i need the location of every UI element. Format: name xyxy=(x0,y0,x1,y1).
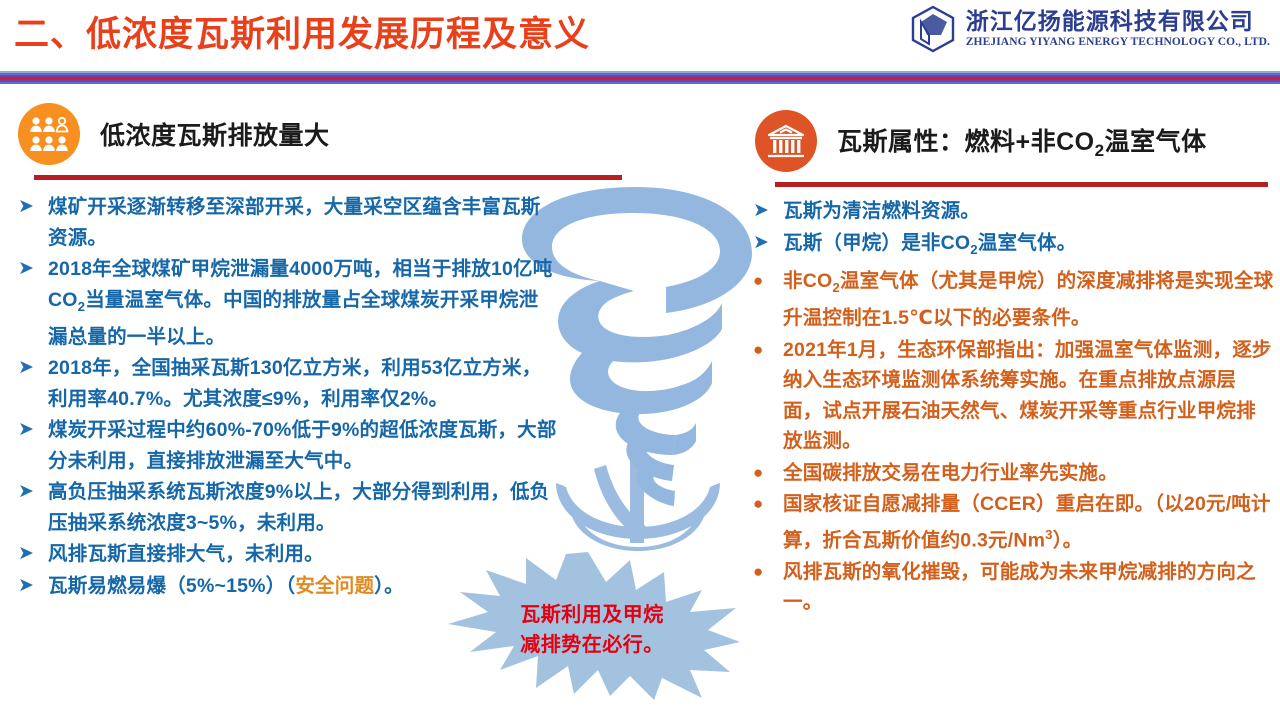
right-title-part1: 瓦斯属性：燃料+非CO xyxy=(837,128,1095,156)
bullet-text: 高负压抽采系统瓦斯浓度9%以上，大部分得到利用，低负压抽采系统浓度3~5%，未利… xyxy=(48,477,558,538)
company-name-en: ZHEJIANG YIYANG ENERGY TECHNOLOGY CO., L… xyxy=(966,37,1270,49)
right-bullet-list: ➤ 瓦斯为清洁燃料资源。 ➤ 瓦斯（甲烷）是非CO2温室气体。 ● 非CO2温室… xyxy=(745,196,1275,619)
callout-line-2: 减排势在必行。 xyxy=(472,630,712,660)
arrow-bullet-icon: ➤ xyxy=(10,539,48,569)
list-item: ➤ 2018年，全国抽采瓦斯130亿立方米，利用53亿立方米，利用率40.7%。… xyxy=(10,353,558,414)
list-item: ➤ 风排瓦斯直接排大气，未利用。 xyxy=(10,539,558,570)
arrow-bullet-icon: ➤ xyxy=(10,415,48,445)
bullet-text: 国家核证自愿减排量（CCER）重启在即。（以20元/吨计算，折合瓦斯价值约0.3… xyxy=(783,489,1275,556)
list-item: ➤ 瓦斯易燃易爆（5%~15%）（安全问题）。 xyxy=(10,571,558,602)
list-item: ● 风排瓦斯的氧化摧毁，可能成为未来甲烷减排的方向之一。 xyxy=(745,557,1275,618)
right-title-sub: 2 xyxy=(1095,141,1105,160)
dot-bullet-icon: ● xyxy=(745,458,783,488)
bullet-text: 风排瓦斯的氧化摧毁，可能成为未来甲烷减排的方向之一。 xyxy=(783,557,1275,618)
bullet-text: 瓦斯（甲烷）是非CO2温室气体。 xyxy=(783,228,1076,265)
dot-bullet-icon: ● xyxy=(745,335,783,365)
right-section-heading: 瓦斯属性：燃料+非CO2温室气体 xyxy=(755,110,1265,187)
page-title: 二、低浓度瓦斯利用发展历程及意义 xyxy=(14,8,590,62)
starburst-callout-text: 瓦斯利用及甲烷 减排势在必行。 xyxy=(472,600,712,660)
right-section-title: 瓦斯属性：燃料+非CO2温室气体 xyxy=(837,122,1207,161)
list-item: ➤ 瓦斯为清洁燃料资源。 xyxy=(745,196,1275,227)
list-item: ● 非CO2温室气体（尤其是甲烷）的深度减排将是实现全球升温控制在1.5℃以下的… xyxy=(745,266,1275,334)
arrow-bullet-icon: ➤ xyxy=(745,196,783,226)
bullet-highlight: 安全问题 xyxy=(295,575,374,597)
slide-header: 二、低浓度瓦斯利用发展历程及意义 浙江亿扬能源科技有限公司 ZHEJIANG Y… xyxy=(0,0,1280,84)
left-bullet-list: ➤ 煤矿开采逐渐转移至深部开采，大量采空区蕴含丰富瓦斯资源。 ➤ 2018年全球… xyxy=(10,192,558,602)
list-item: ➤ 2018年全球煤矿甲烷泄漏量4000万吨，相当于排放10亿吨CO2当量温室气… xyxy=(10,254,558,352)
right-title-part2: 温室气体 xyxy=(1105,128,1207,156)
arrow-bullet-icon: ➤ xyxy=(10,254,48,284)
people-group-icon xyxy=(18,103,80,165)
bullet-text: 风排瓦斯直接排大气，未利用。 xyxy=(48,539,324,570)
hexagon-cube-logo-icon xyxy=(910,5,956,53)
left-section-heading: 低浓度瓦斯排放量大 xyxy=(18,103,618,180)
dot-bullet-icon: ● xyxy=(745,489,783,519)
bullet-text: 非CO2温室气体（尤其是甲烷）的深度减排将是实现全球升温控制在1.5℃以下的必要… xyxy=(783,266,1275,334)
dot-bullet-icon: ● xyxy=(745,557,783,587)
list-item: ● 2021年1月，生态环保部指出：加强温室气体监测，逐步纳入生态环境监测体系统… xyxy=(745,335,1275,457)
company-name-cn: 浙江亿扬能源科技有限公司 xyxy=(966,10,1270,33)
bullet-text: 2021年1月，生态环保部指出：加强温室气体监测，逐步纳入生态环境监测体系统筹实… xyxy=(783,335,1275,457)
list-item: ➤ 高负压抽采系统瓦斯浓度9%以上，大部分得到利用，低负压抽采系统浓度3~5%，… xyxy=(10,477,558,538)
list-item: ● 国家核证自愿减排量（CCER）重启在即。（以20元/吨计算，折合瓦斯价值约0… xyxy=(745,489,1275,556)
arrow-bullet-icon: ➤ xyxy=(745,228,783,258)
bullet-text: 2018年，全国抽采瓦斯130亿立方米，利用53亿立方米，利用率40.7%。尤其… xyxy=(48,353,558,414)
list-item: ➤ 煤炭开采过程中约60%-70%低于9%的超低浓度瓦斯，大部分未利用，直接排放… xyxy=(10,415,558,476)
bank-building-icon xyxy=(755,110,817,172)
list-item: ➤ 煤矿开采逐渐转移至深部开采，大量采空区蕴含丰富瓦斯资源。 xyxy=(10,192,558,253)
left-section-title: 低浓度瓦斯排放量大 xyxy=(100,116,330,152)
dot-bullet-icon: ● xyxy=(745,266,783,296)
list-item: ● 全国碳排放交易在电力行业率先实施。 xyxy=(745,458,1275,489)
list-item: ➤ 瓦斯（甲烷）是非CO2温室气体。 xyxy=(745,228,1275,265)
bullet-text: 煤矿开采逐渐转移至深部开采，大量采空区蕴含丰富瓦斯资源。 xyxy=(48,192,558,253)
bullet-text: 2018年全球煤矿甲烷泄漏量4000万吨，相当于排放10亿吨CO2当量温室气体。… xyxy=(48,254,558,352)
bullet-text: 瓦斯易燃易爆（5%~15%）（安全问题）。 xyxy=(48,571,404,602)
company-logo: 浙江亿扬能源科技有限公司 ZHEJIANG YIYANG ENERGY TECH… xyxy=(910,5,1270,53)
header-divider xyxy=(0,71,1280,80)
arrow-bullet-icon: ➤ xyxy=(10,353,48,383)
arrow-bullet-icon: ➤ xyxy=(10,571,48,601)
bullet-text: 煤炭开采过程中约60%-70%低于9%的超低浓度瓦斯，大部分未利用，直接排放泄漏… xyxy=(48,415,558,476)
callout-line-1: 瓦斯利用及甲烷 xyxy=(472,600,712,630)
arrow-bullet-icon: ➤ xyxy=(10,192,48,222)
arrow-bullet-icon: ➤ xyxy=(10,477,48,507)
bullet-text: 全国碳排放交易在电力行业率先实施。 xyxy=(783,458,1118,489)
left-heading-underline xyxy=(34,175,622,180)
bullet-text: 瓦斯为清洁燃料资源。 xyxy=(783,196,980,227)
right-heading-underline xyxy=(775,182,1268,187)
